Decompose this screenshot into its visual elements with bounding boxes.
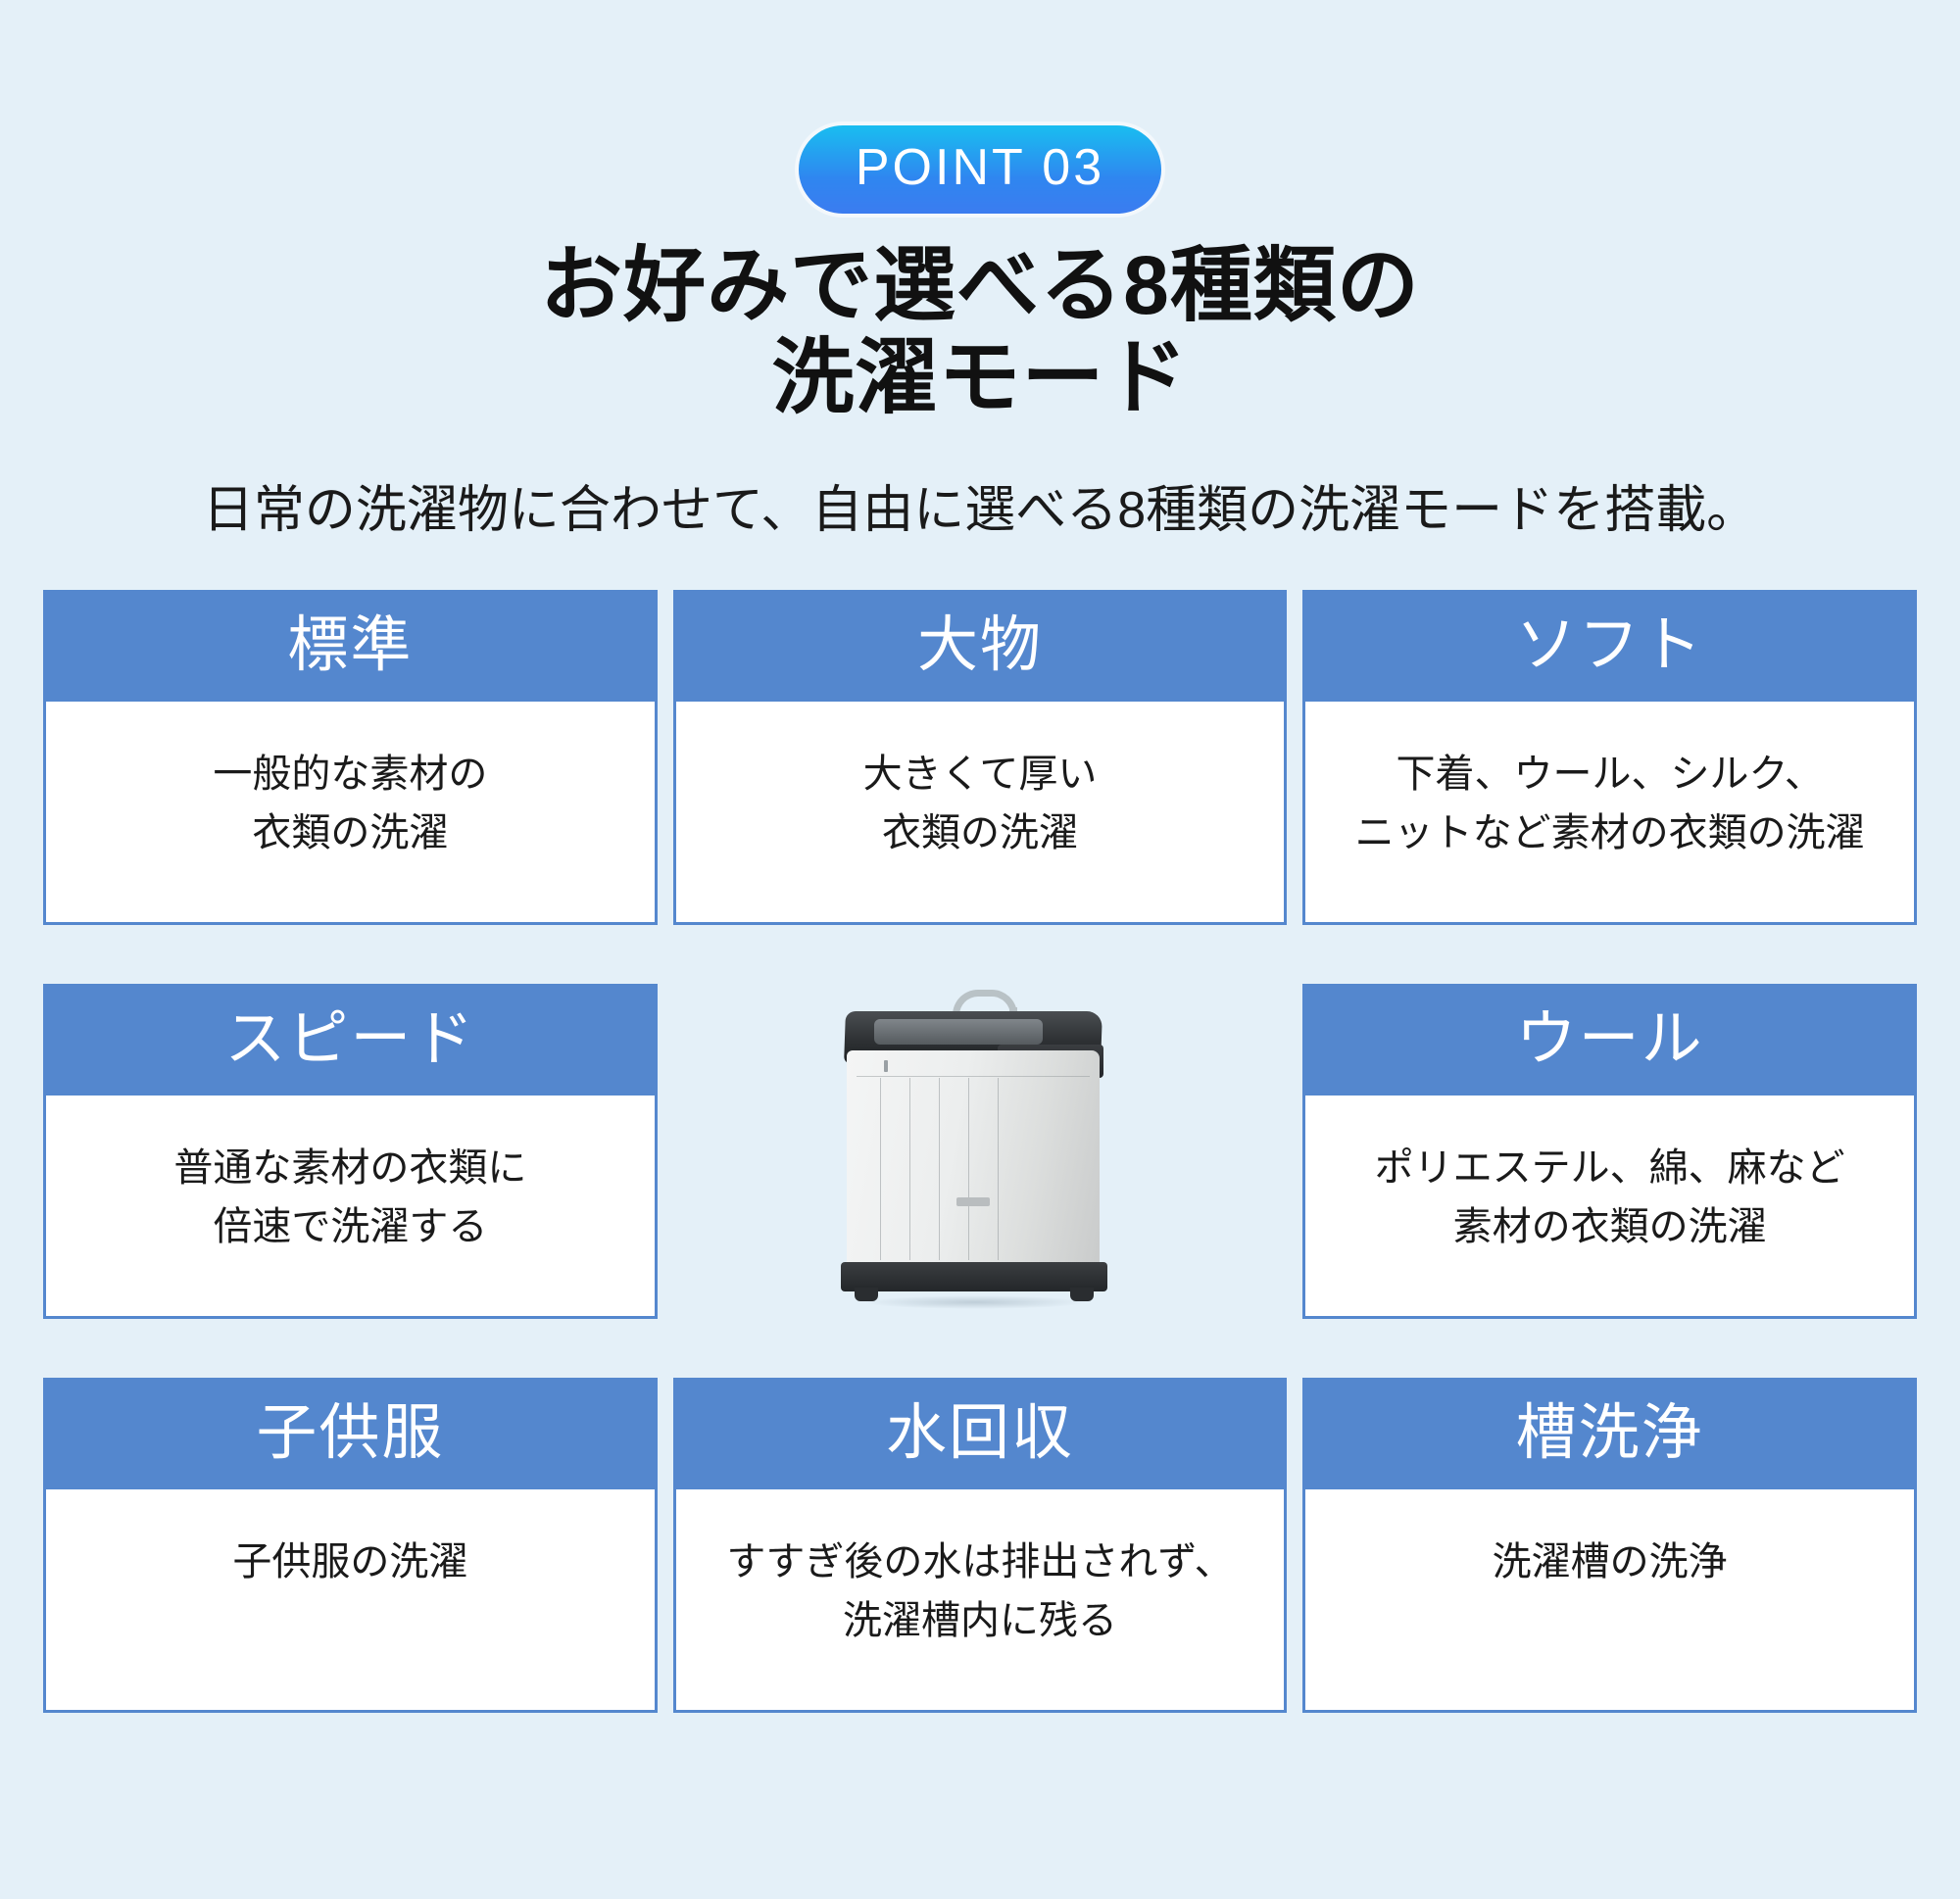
page-title: お好みで選べる8種類の 洗濯モード: [0, 239, 1960, 423]
mode-card-speed: スピード 普通な素材の衣類に 倍速で洗濯する: [43, 984, 658, 1319]
mode-card-title: 槽洗浄: [1305, 1381, 1914, 1489]
washer-lid-window: [874, 1019, 1043, 1045]
mode-card-title: スピード: [46, 987, 655, 1096]
page-title-line-2: 洗濯モード: [0, 331, 1960, 423]
mode-card-description: 大きくて厚い 衣類の洗濯: [852, 745, 1109, 862]
washer-body-seam: [968, 1078, 969, 1260]
mode-desc-line-1: ポリエステル、綿、麻など: [1375, 1139, 1845, 1197]
mode-card-description: すすぎ後の水は排出されず、 洗濯槽内に残る: [714, 1533, 1245, 1650]
mode-desc-line-2: 倍速で洗濯する: [173, 1197, 526, 1256]
mode-card-bulky: 大物 大きくて厚い 衣類の洗濯: [673, 590, 1288, 925]
mode-card-wool: ウール ポリエステル、綿、麻など 素材の衣類の洗濯: [1302, 984, 1917, 1319]
washer-shadow: [862, 1295, 1088, 1309]
mode-card-childrens-wear: 子供服 子供服の洗濯: [43, 1378, 658, 1713]
mode-desc-line-1: すすぎ後の水は排出されず、: [726, 1533, 1233, 1591]
washer-body: [847, 1050, 1100, 1268]
washer-body-seam: [880, 1078, 881, 1260]
mode-desc-line-1: 一般的な素材の: [213, 745, 487, 803]
mode-desc-line-2: ニットなど素材の衣類の洗濯: [1355, 803, 1865, 862]
mode-card-title: 子供服: [46, 1381, 655, 1489]
mode-desc-line-1: 下着、ウール、シルク、: [1355, 745, 1865, 803]
product-photo-cell: [673, 984, 1288, 1319]
mode-card-title: ウール: [1305, 987, 1914, 1096]
washer-body-seam: [939, 1078, 940, 1260]
washer-brand-badge: [956, 1197, 990, 1206]
mode-card-body: すすぎ後の水は排出されず、 洗濯槽内に残る: [676, 1489, 1285, 1710]
mode-desc-line-2: 洗濯槽内に残る: [726, 1591, 1233, 1650]
mode-card-description: 普通な素材の衣類に 倍速で洗濯する: [162, 1139, 538, 1256]
mode-card-description: 一般的な素材の 衣類の洗濯: [201, 745, 499, 862]
mode-card-description: 下着、ウール、シルク、 ニットなど素材の衣類の洗濯: [1344, 745, 1877, 862]
mode-desc-line-1: 大きくて厚い: [863, 745, 1098, 803]
mode-desc-line-1: 普通な素材の衣類に: [173, 1139, 526, 1197]
mode-card-body: ポリエステル、綿、麻など 素材の衣類の洗濯: [1305, 1096, 1914, 1316]
washer-body-latch: [884, 1060, 888, 1072]
mode-card-title: 標準: [46, 593, 655, 702]
mode-card-water-recovery: 水回収 すすぎ後の水は排出されず、 洗濯槽内に残る: [673, 1378, 1288, 1713]
mode-card-body: 一般的な素材の 衣類の洗濯: [46, 702, 655, 922]
mode-card-body: 普通な素材の衣類に 倍速で洗濯する: [46, 1096, 655, 1316]
mode-card-title: 水回収: [676, 1381, 1285, 1489]
washer-base: [841, 1262, 1107, 1291]
mode-card-description: 子供服の洗濯: [220, 1533, 479, 1591]
mode-desc-line-2: 衣類の洗濯: [213, 803, 487, 862]
mode-card-tub-clean: 槽洗浄 洗濯槽の洗浄: [1302, 1378, 1917, 1713]
mode-grid: 標準 一般的な素材の 衣類の洗濯 大物 大きくて厚い 衣類の洗濯 ソフト: [43, 590, 1917, 1713]
mode-desc-line-1: 洗濯槽の洗浄: [1493, 1533, 1728, 1591]
mode-card-standard: 標準 一般的な素材の 衣類の洗濯: [43, 590, 658, 925]
mode-card-description: ポリエステル、綿、麻など 素材の衣類の洗濯: [1363, 1139, 1857, 1256]
mode-card-body: 洗濯槽の洗浄: [1305, 1489, 1914, 1710]
mode-card-body: 子供服の洗濯: [46, 1489, 655, 1710]
mode-card-description: 洗濯槽の洗浄: [1481, 1533, 1739, 1591]
mode-card-body: 下着、ウール、シルク、 ニットなど素材の衣類の洗濯: [1305, 702, 1914, 922]
mode-card-soft: ソフト 下着、ウール、シルク、 ニットなど素材の衣類の洗濯: [1302, 590, 1917, 925]
mode-card-title: ソフト: [1305, 593, 1914, 702]
page-header: POINT 03 お好みで選べる8種類の 洗濯モード 日常の洗濯物に合わせて、自…: [0, 0, 1960, 545]
washer-body-seam: [909, 1078, 910, 1260]
mode-desc-line-2: 衣類の洗濯: [863, 803, 1098, 862]
mode-card-title: 大物: [676, 593, 1285, 702]
mode-desc-line-2: 素材の衣類の洗濯: [1375, 1197, 1845, 1256]
point-badge: POINT 03: [799, 125, 1161, 214]
point-03-page: POINT 03 お好みで選べる8種類の 洗濯モード 日常の洗濯物に合わせて、自…: [0, 0, 1960, 1899]
washer-body-seam: [857, 1076, 1090, 1077]
mode-desc-line-1: 子供服の洗濯: [232, 1533, 467, 1591]
washer-body-seam: [998, 1078, 999, 1260]
page-subtitle: 日常の洗濯物に合わせて、自由に選べる8種類の洗濯モードを搭載。: [0, 478, 1960, 545]
page-title-line-1: お好みで選べる8種類の: [0, 239, 1960, 331]
mode-card-body: 大きくて厚い 衣類の洗濯: [676, 702, 1285, 922]
washing-machine-photo: [833, 990, 1127, 1313]
